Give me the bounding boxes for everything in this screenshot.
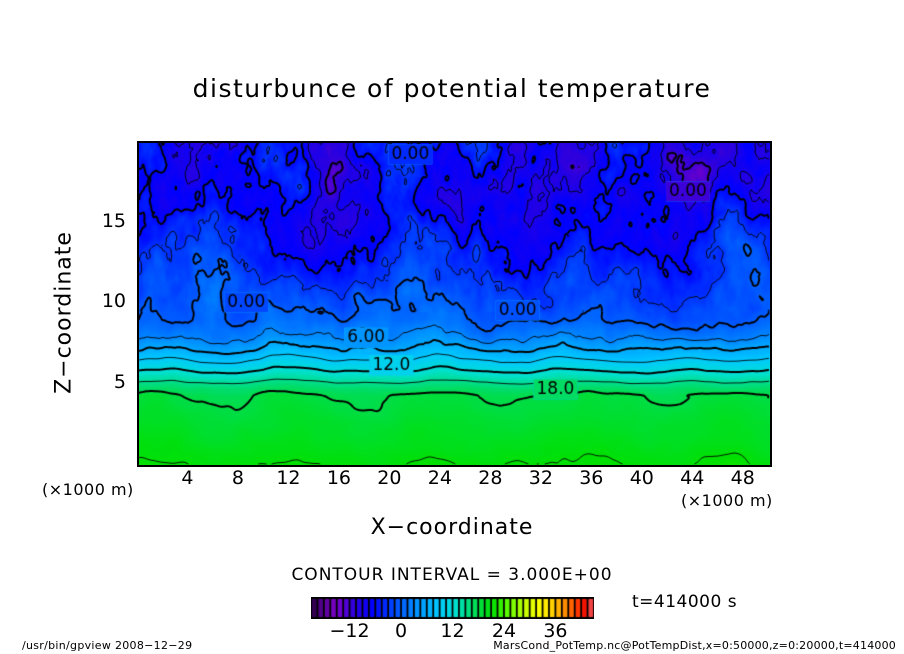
y-tick-minor (137, 271, 139, 273)
y-tick-label: 10 (86, 290, 126, 312)
y-tick-minor (137, 448, 139, 450)
colorbar-gradient (311, 597, 594, 619)
y-tick-right (770, 416, 772, 418)
y-tick-right (770, 239, 772, 241)
x-tick-top (491, 141, 493, 143)
x-tick-label: 48 (720, 467, 766, 489)
x-tick-top (163, 141, 165, 143)
y-tick-minor (137, 367, 139, 369)
x-tick-minor (769, 465, 771, 467)
y-tick-right (770, 174, 772, 176)
y-tick-minor (137, 335, 139, 337)
x-tick-top (693, 141, 695, 143)
y-tick-right (770, 335, 772, 337)
x-tick-top (618, 141, 620, 143)
x-tick-label: 32 (518, 467, 564, 489)
contour-field-canvas (139, 143, 770, 465)
y-tick-minor (137, 432, 139, 434)
y-tick-minor (137, 319, 139, 321)
x-tick-top (340, 141, 342, 143)
y-tick-minor (137, 190, 139, 192)
x-tick-label: 44 (669, 467, 715, 489)
y-tick-minor (137, 206, 139, 208)
y-tick-minor (137, 351, 139, 353)
y-tick-right (770, 400, 772, 402)
y-tick-right (770, 255, 772, 257)
y-tick-right (770, 319, 772, 321)
x-tick-label: 20 (366, 467, 412, 489)
x-tick-top (769, 141, 771, 143)
colorbar[interactable] (311, 597, 594, 619)
y-tick-right (770, 303, 772, 305)
y-tick-right (770, 448, 772, 450)
x-tick-top (264, 141, 266, 143)
y-tick-right (770, 206, 772, 208)
y-tick-right (770, 367, 772, 369)
x-tick-label: 12 (265, 467, 311, 489)
y-tick-minor (137, 239, 139, 241)
x-tick-top (719, 141, 721, 143)
x-tick-top (592, 141, 594, 143)
x-units-right: (×1000 m) (681, 491, 773, 510)
y-tick-right (770, 432, 772, 434)
y-tick-right (770, 190, 772, 192)
y-tick-major (137, 303, 139, 305)
x-tick-label: 28 (467, 467, 513, 489)
y-tick-major (137, 223, 139, 225)
y-tick-minor (137, 255, 139, 257)
x-tick-top (365, 141, 367, 143)
x-tick-top (188, 141, 190, 143)
y-tick-minor (137, 174, 139, 176)
time-label: t=414000 s (632, 592, 737, 612)
x-tick-top (567, 141, 569, 143)
y-tick-minor (137, 287, 139, 289)
y-tick-minor (137, 416, 139, 418)
x-axis-title: X−coordinate (0, 515, 904, 540)
x-tick-top (214, 141, 216, 143)
x-tick-top (744, 141, 746, 143)
y-tick-minor (137, 158, 139, 160)
x-tick-top (315, 141, 317, 143)
y-tick-label: 15 (86, 210, 126, 232)
x-tick-top (542, 141, 544, 143)
x-tick-top (416, 141, 418, 143)
page-title: disturbunce of potential temperature (0, 74, 904, 103)
x-tick-top (390, 141, 392, 143)
x-tick-top (239, 141, 241, 143)
x-tick-label: 24 (417, 467, 463, 489)
x-tick-top (441, 141, 443, 143)
y-axis-title: Z−coordinate (52, 203, 77, 423)
y-tick-right (770, 223, 772, 225)
x-tick-label: 36 (568, 467, 614, 489)
y-tick-right (770, 287, 772, 289)
y-tick-right (770, 158, 772, 160)
y-tick-major (137, 384, 139, 386)
footer-dataset: MarsCond_PotTemp.nc@PotTempDist,x=0:5000… (493, 639, 896, 652)
contour-interval-label: CONTOUR INTERVAL = 3.000E+00 (0, 565, 904, 585)
x-tick-top (643, 141, 645, 143)
y-tick-label: 5 (86, 371, 126, 393)
contour-plot-area[interactable] (137, 141, 772, 467)
y-tick-right (770, 384, 772, 386)
x-tick-top (289, 141, 291, 143)
x-tick-top (517, 141, 519, 143)
x-tick-label: 4 (164, 467, 210, 489)
y-tick-right (770, 271, 772, 273)
x-tick-top (668, 141, 670, 143)
x-units-left: (×1000 m) (42, 480, 134, 499)
x-tick-label: 40 (619, 467, 665, 489)
x-tick-top (466, 141, 468, 143)
y-tick-right (770, 351, 772, 353)
footer-command: /usr/bin/gpview 2008−12−29 (22, 639, 192, 652)
x-tick-label: 8 (215, 467, 261, 489)
x-tick-label: 16 (316, 467, 362, 489)
y-tick-minor (137, 400, 139, 402)
